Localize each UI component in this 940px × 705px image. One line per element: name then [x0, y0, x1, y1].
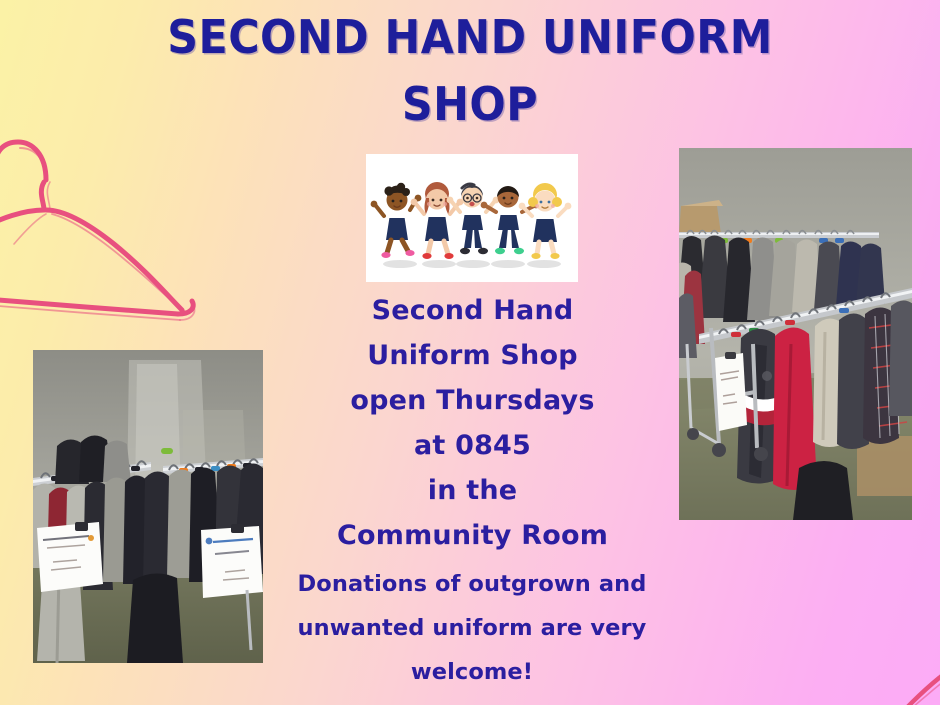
- jumping-children-clipart: [366, 154, 578, 282]
- poster-title: SECOND HAND UNIFORM SHOP: [89, 4, 852, 138]
- poster-canvas: SECOND HAND UNIFORM SHOP: [0, 0, 940, 705]
- uniform-rails-photo-left: [33, 350, 263, 663]
- opening-hours-text: Second Hand Uniform Shop open Thursdays …: [300, 288, 645, 558]
- uniform-rails-photo-right: [679, 148, 912, 520]
- clothes-hanger-icon: [858, 528, 940, 705]
- donation-message-text: Donations of outgrown and unwanted unifo…: [268, 562, 676, 694]
